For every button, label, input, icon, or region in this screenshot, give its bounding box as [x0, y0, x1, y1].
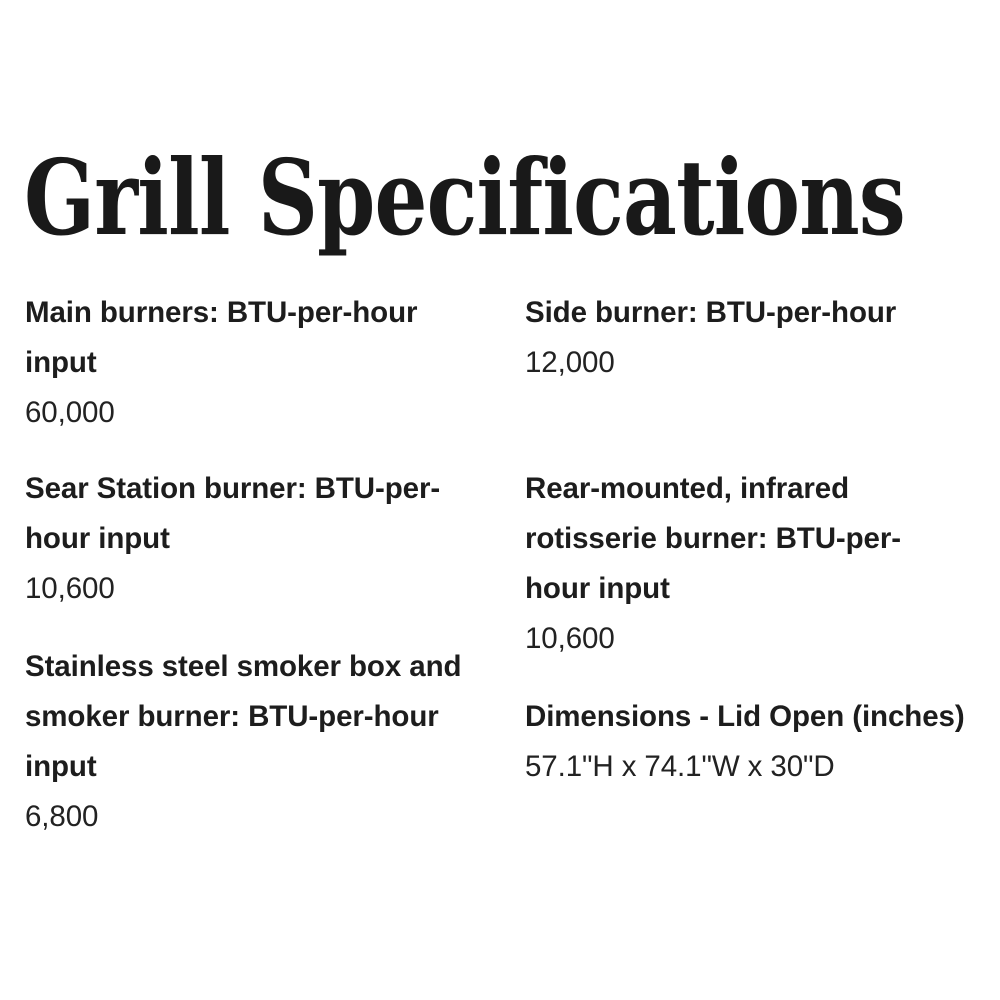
spec-left-column: Main burners: BTU-per-hour input 60,000 …: [25, 288, 510, 842]
grill-specifications-page: Grill Specifications Main burners: BTU-p…: [0, 0, 1000, 1000]
spec-label-side-burner-line-1: Side burner: BTU-per-hour: [525, 288, 995, 338]
spec-value-rotisserie: 10,600: [525, 614, 995, 664]
spec-item-sear-station-burner: Sear Station burner: BTU-per- hour input…: [25, 464, 510, 614]
spec-right-column: Side burner: BTU-per-hour 12,000 Rear-mo…: [525, 288, 995, 792]
spec-label-sear-station-line-2: hour input: [25, 514, 510, 564]
spec-item-rotisserie-burner: Rear-mounted, infrared rotisserie burner…: [525, 464, 995, 664]
spec-label-main-burners-line-2: input: [25, 338, 510, 388]
spec-item-smoker-box: Stainless steel smoker box and smoker bu…: [25, 642, 510, 842]
spacer-left-1: [25, 438, 510, 464]
spec-label-rotisserie-line-2: rotisserie burner: BTU-per-: [525, 514, 995, 564]
spec-item-side-burner: Side burner: BTU-per-hour 12,000: [525, 288, 995, 388]
spec-value-sear-station: 10,600: [25, 564, 510, 614]
spacer-right-2: [525, 664, 995, 692]
spec-value-dimensions: 57.1"H x 74.1"W x 30"D: [525, 742, 995, 792]
spec-label-smoker-box-line-2: smoker burner: BTU-per-hour: [25, 692, 510, 742]
spec-item-dimensions: Dimensions - Lid Open (inches) 57.1"H x …: [525, 692, 995, 792]
spec-label-smoker-box-line-1: Stainless steel smoker box and: [25, 642, 510, 692]
spacer-right-1: [525, 388, 995, 464]
spec-value-side-burner: 12,000: [525, 338, 995, 388]
spec-value-smoker-box: 6,800: [25, 792, 510, 842]
spec-label-smoker-box-line-3: input: [25, 742, 510, 792]
spec-label-sear-station-line-1: Sear Station burner: BTU-per-: [25, 464, 510, 514]
spec-label-rotisserie-line-1: Rear-mounted, infrared: [525, 464, 995, 514]
page-title: Grill Specifications: [24, 146, 905, 250]
spacer-left-2: [25, 614, 510, 642]
spec-value-main-burners: 60,000: [25, 388, 510, 438]
spec-label-rotisserie-line-3: hour input: [525, 564, 995, 614]
spec-label-main-burners-line-1: Main burners: BTU-per-hour: [25, 288, 510, 338]
spec-label-dimensions: Dimensions - Lid Open (inches): [525, 692, 995, 742]
spec-item-main-burners: Main burners: BTU-per-hour input 60,000: [25, 288, 510, 438]
